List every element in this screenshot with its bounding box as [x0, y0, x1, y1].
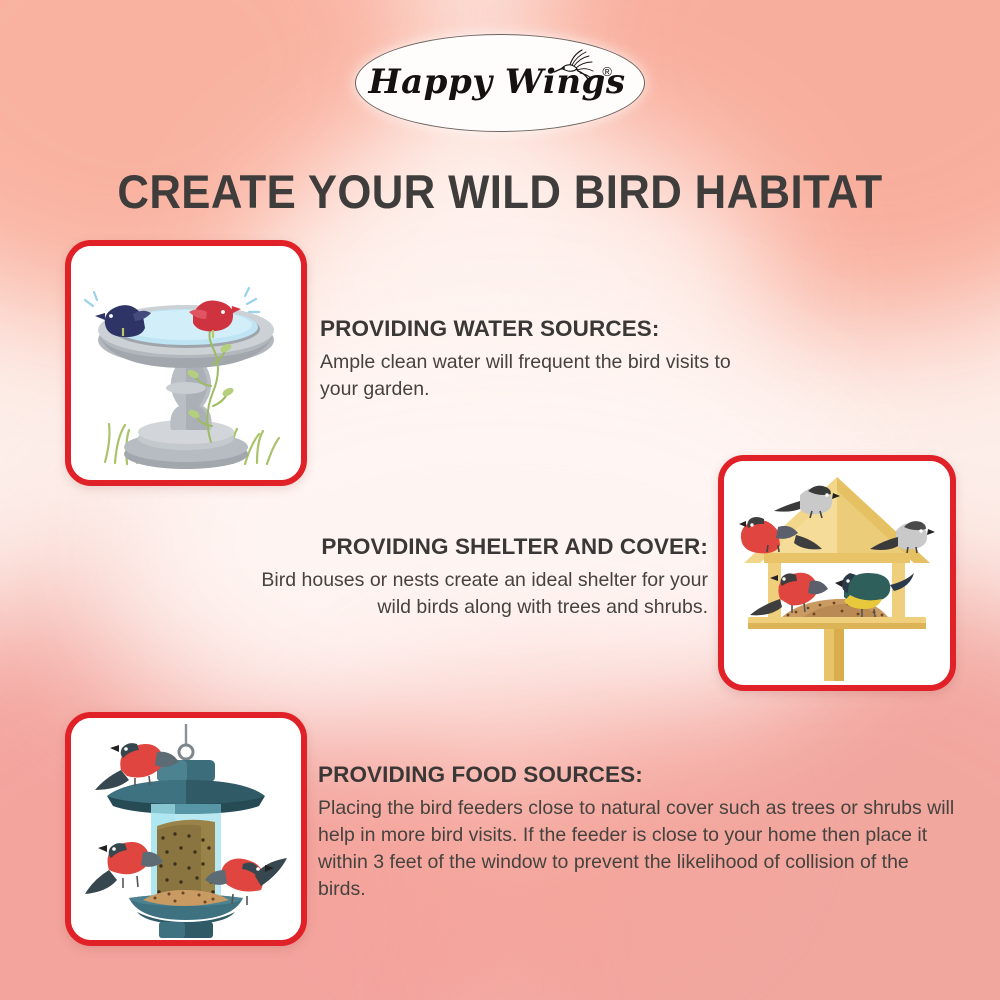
section-water-body: Ample clean water will frequent the bird…	[320, 349, 740, 402]
tube-feeder-illustration	[71, 718, 301, 940]
infographic-poster: Happy Wings ® CREATE YOUR WILD BIRD HABI…	[0, 0, 1000, 1000]
bird-bath-image-card	[65, 240, 307, 486]
bird-bath-illustration	[71, 246, 301, 480]
section-shelter-body: Bird houses or nests create an ideal she…	[248, 567, 708, 620]
tube-feeder-image-card	[65, 712, 307, 946]
section-shelter-text: PROVIDING SHELTER AND COVER: Bird houses…	[248, 534, 708, 620]
section-water-heading: PROVIDING WATER SOURCES:	[320, 316, 740, 342]
section-food-heading: PROVIDING FOOD SOURCES:	[318, 762, 958, 788]
page-title: CREATE YOUR WILD BIRD HABITAT	[35, 164, 965, 219]
trademark-symbol: ®	[602, 64, 612, 79]
section-food-body: Placing the bird feeders close to natura…	[318, 795, 958, 903]
bird-house-image-card	[718, 455, 956, 691]
bird-house-illustration	[724, 461, 950, 685]
brand-logo: Happy Wings ®	[355, 34, 645, 132]
section-food-text: PROVIDING FOOD SOURCES: Placing the bird…	[318, 762, 958, 903]
hummingbird-icon	[550, 46, 598, 86]
section-water-text: PROVIDING WATER SOURCES: Ample clean wat…	[320, 316, 740, 402]
section-shelter-heading: PROVIDING SHELTER AND COVER:	[248, 534, 708, 560]
